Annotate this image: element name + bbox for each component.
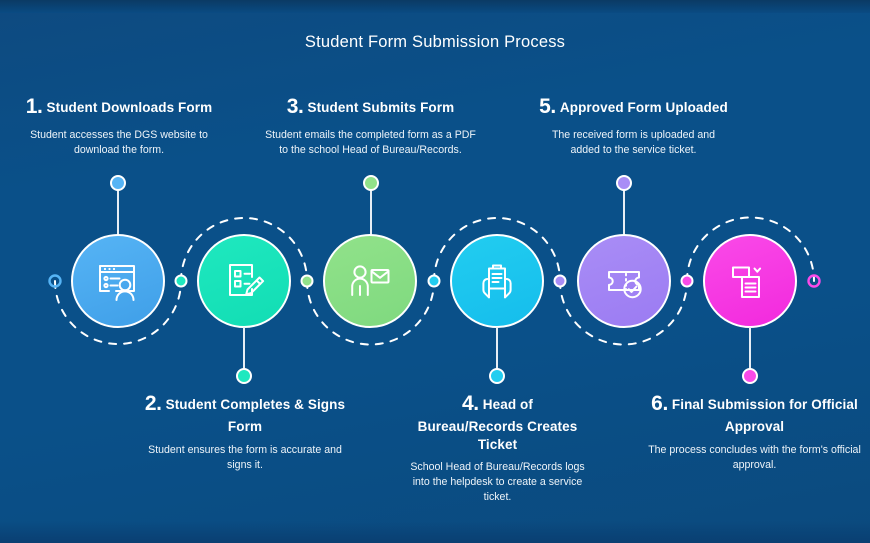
ticket-check-icon: [598, 255, 650, 307]
browser-window-user-icon: [92, 255, 144, 307]
step-node-4[interactable]: [450, 234, 544, 328]
stem-line-2: [243, 327, 245, 372]
stem-bulb-1: [110, 175, 126, 191]
rail-dot-end: [809, 276, 820, 287]
step-text-1: 1.Student Downloads Form Student accesse…: [14, 93, 224, 158]
step-description-2: Student ensures the form is accurate and…: [140, 443, 350, 473]
rail-dot-start: [50, 276, 61, 287]
step-number-4: 4.: [462, 392, 479, 415]
stem-bulb-2: [236, 368, 252, 384]
step-description-4: School Head of Bureau/Records logs into …: [410, 460, 585, 505]
step-heading-text-5: Approved Form Uploaded: [560, 100, 728, 115]
step-node-3[interactable]: [323, 234, 417, 328]
person-envelope-icon: [344, 255, 396, 307]
step-text-4: 4.Head of Bureau/Records Creates Ticket …: [410, 390, 585, 505]
rail-dot-5-6: [682, 276, 693, 287]
step-description-3: Student emails the completed form as a P…: [263, 128, 478, 158]
step-number-3: 3.: [287, 95, 304, 118]
bottom-gradient-band: [0, 521, 870, 543]
rail-dot-3-4: [429, 276, 440, 287]
page-title: Student Form Submission Process: [0, 33, 870, 52]
step-number-1: 1.: [26, 95, 43, 118]
step-heading-text-3: Student Submits Form: [307, 100, 454, 115]
step-text-2: 2.Student Completes & Signs Form Student…: [140, 390, 350, 473]
rail-dot-1-2: [176, 276, 187, 287]
stem-line-1: [117, 190, 119, 235]
step-node-6[interactable]: [703, 234, 797, 328]
stem-line-3: [370, 190, 372, 235]
step-heading-4: 4.Head of Bureau/Records Creates Ticket: [410, 390, 585, 453]
stem-bulb-4: [489, 368, 505, 384]
stem-line-5: [623, 190, 625, 235]
infographic-canvas: Student Form Submission Process: [0, 0, 870, 543]
step-node-2[interactable]: [197, 234, 291, 328]
step-text-5: 5.Approved Form Uploaded The received fo…: [536, 93, 731, 158]
step-heading-1: 1.Student Downloads Form: [14, 93, 224, 121]
stem-bulb-6: [742, 368, 758, 384]
step-heading-text-2: Student Completes & Signs Form: [166, 397, 346, 434]
step-number-5: 5.: [539, 95, 556, 118]
stem-line-4: [496, 327, 498, 372]
document-check-upload-icon: [724, 255, 776, 307]
step-node-5[interactable]: [577, 234, 671, 328]
step-node-1[interactable]: [71, 234, 165, 328]
step-description-6: The process concludes with the form's of…: [647, 443, 862, 473]
step-text-6: 6.Final Submission for Official Approval…: [647, 390, 862, 473]
step-number-2: 2.: [145, 392, 162, 415]
step-description-1: Student accesses the DGS website to down…: [14, 128, 224, 158]
top-gradient-band: [0, 0, 870, 13]
step-heading-6: 6.Final Submission for Official Approval: [647, 390, 862, 436]
step-text-3: 3.Student Submits Form Student emails th…: [263, 93, 478, 158]
step-number-6: 6.: [651, 392, 668, 415]
step-heading-2: 2.Student Completes & Signs Form: [140, 390, 350, 436]
stem-bulb-3: [363, 175, 379, 191]
step-heading-5: 5.Approved Form Uploaded: [536, 93, 731, 121]
step-heading-text-1: Student Downloads Form: [47, 100, 213, 115]
form-pencil-icon: [218, 255, 270, 307]
step-heading-text-6: Final Submission for Official Approval: [672, 397, 858, 434]
stem-line-6: [749, 327, 751, 372]
rail-dot-4-5: [555, 276, 566, 287]
rail-dot-2-3: [302, 276, 313, 287]
step-heading-3: 3.Student Submits Form: [263, 93, 478, 121]
step-heading-text-4: Head of Bureau/Records Creates Ticket: [418, 397, 578, 452]
step-description-5: The received form is uploaded and added …: [536, 128, 731, 158]
stem-bulb-5: [616, 175, 632, 191]
hands-holding-document-icon: [471, 255, 523, 307]
